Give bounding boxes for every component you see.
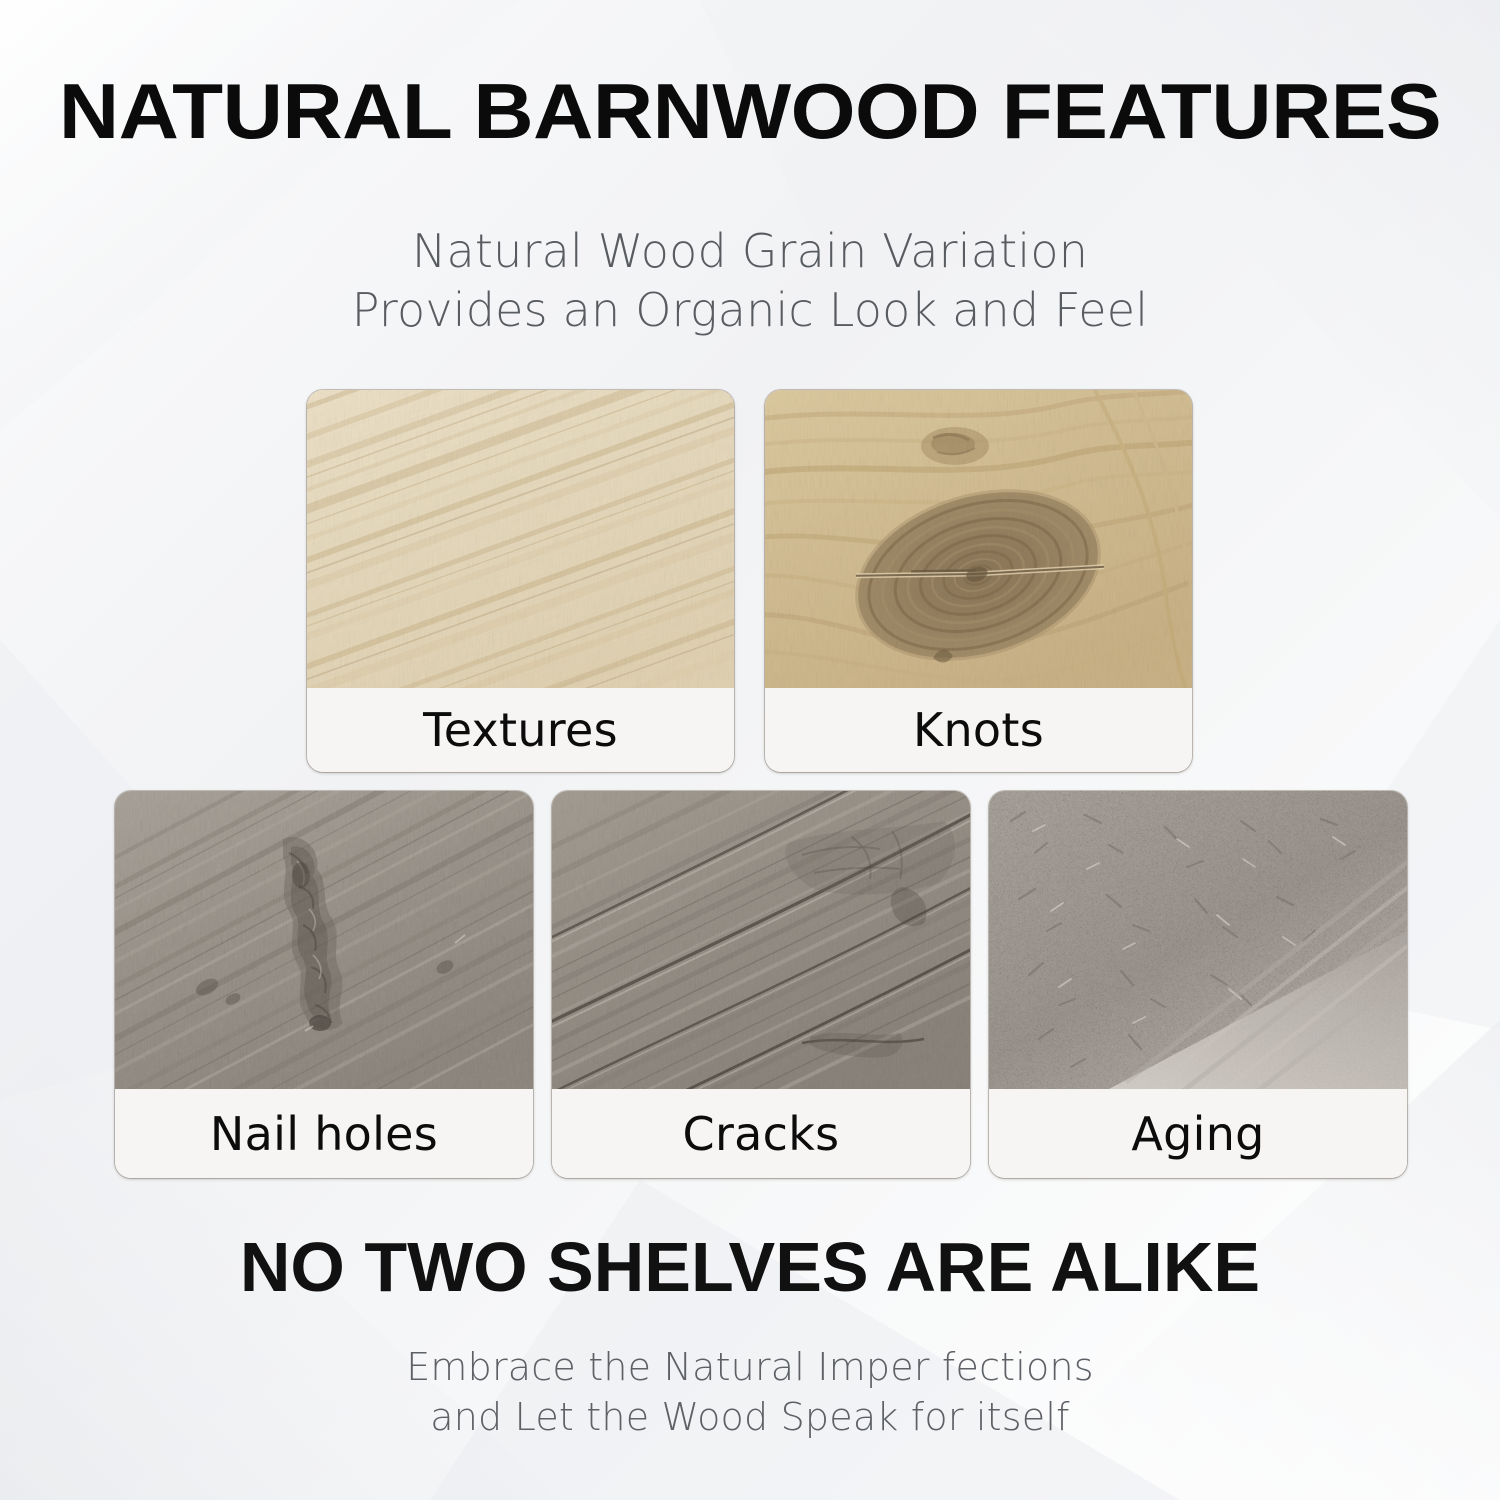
light-wood-grain-texture [307, 390, 734, 688]
feature-card-knots-label: Knots [913, 707, 1044, 753]
feature-card-aging-label: Aging [1131, 1111, 1264, 1157]
tan-wood-with-knot-texture [765, 390, 1192, 688]
gray-weathered-wood-gouge-texture [115, 791, 533, 1089]
feature-card-nail-holes-photo [115, 791, 533, 1089]
header-title-band: NATURAL BARNWOOD FEATURES [0, 72, 1500, 150]
footer-line-1: Embrace the Natural Imper fections [0, 1342, 1500, 1392]
footer-headline-band: NO TWO SHELVES ARE ALIKE [0, 1232, 1500, 1302]
feature-card-textures-photo [307, 390, 734, 688]
feature-card-nail-holes-caption: Nail holes [115, 1089, 533, 1178]
header-subtitle-band: Natural Wood Grain Variation Provides an… [0, 222, 1500, 340]
gray-fibrous-splintered-wood-texture [989, 791, 1407, 1089]
footer-headline: NO TWO SHELVES ARE ALIKE [0, 1232, 1500, 1302]
feature-card-cracks[interactable]: Cracks [552, 791, 970, 1178]
feature-card-nail-holes-label: Nail holes [210, 1111, 438, 1157]
feature-card-textures-caption: Textures [307, 688, 734, 772]
subtitle-line-2: Provides an Organic Look and Feel [0, 281, 1500, 340]
gray-brown-wood-splits-texture [552, 791, 970, 1089]
subtitle-line-1: Natural Wood Grain Variation [0, 222, 1500, 281]
feature-card-knots-caption: Knots [765, 688, 1192, 772]
feature-card-aging[interactable]: Aging [989, 791, 1407, 1178]
feature-card-textures-label: Textures [423, 707, 618, 753]
infographic-page: NATURAL BARNWOOD FEATURES Natural Wood G… [0, 0, 1500, 1500]
feature-card-cracks-label: Cracks [683, 1111, 840, 1157]
footer-line-2: and Let the Wood Speak for itself [0, 1392, 1500, 1442]
feature-card-nail-holes[interactable]: Nail holes [115, 791, 533, 1178]
feature-card-knots[interactable]: Knots [765, 390, 1192, 772]
footer-text-band: Embrace the Natural Imper fections and L… [0, 1342, 1500, 1442]
feature-card-aging-photo [989, 791, 1407, 1089]
feature-card-knots-photo [765, 390, 1192, 688]
feature-card-textures[interactable]: Textures [307, 390, 734, 772]
feature-card-cracks-photo [552, 791, 970, 1089]
page-title: NATURAL BARNWOOD FEATURES [0, 72, 1500, 150]
feature-card-cracks-caption: Cracks [552, 1089, 970, 1178]
feature-card-aging-caption: Aging [989, 1089, 1407, 1178]
